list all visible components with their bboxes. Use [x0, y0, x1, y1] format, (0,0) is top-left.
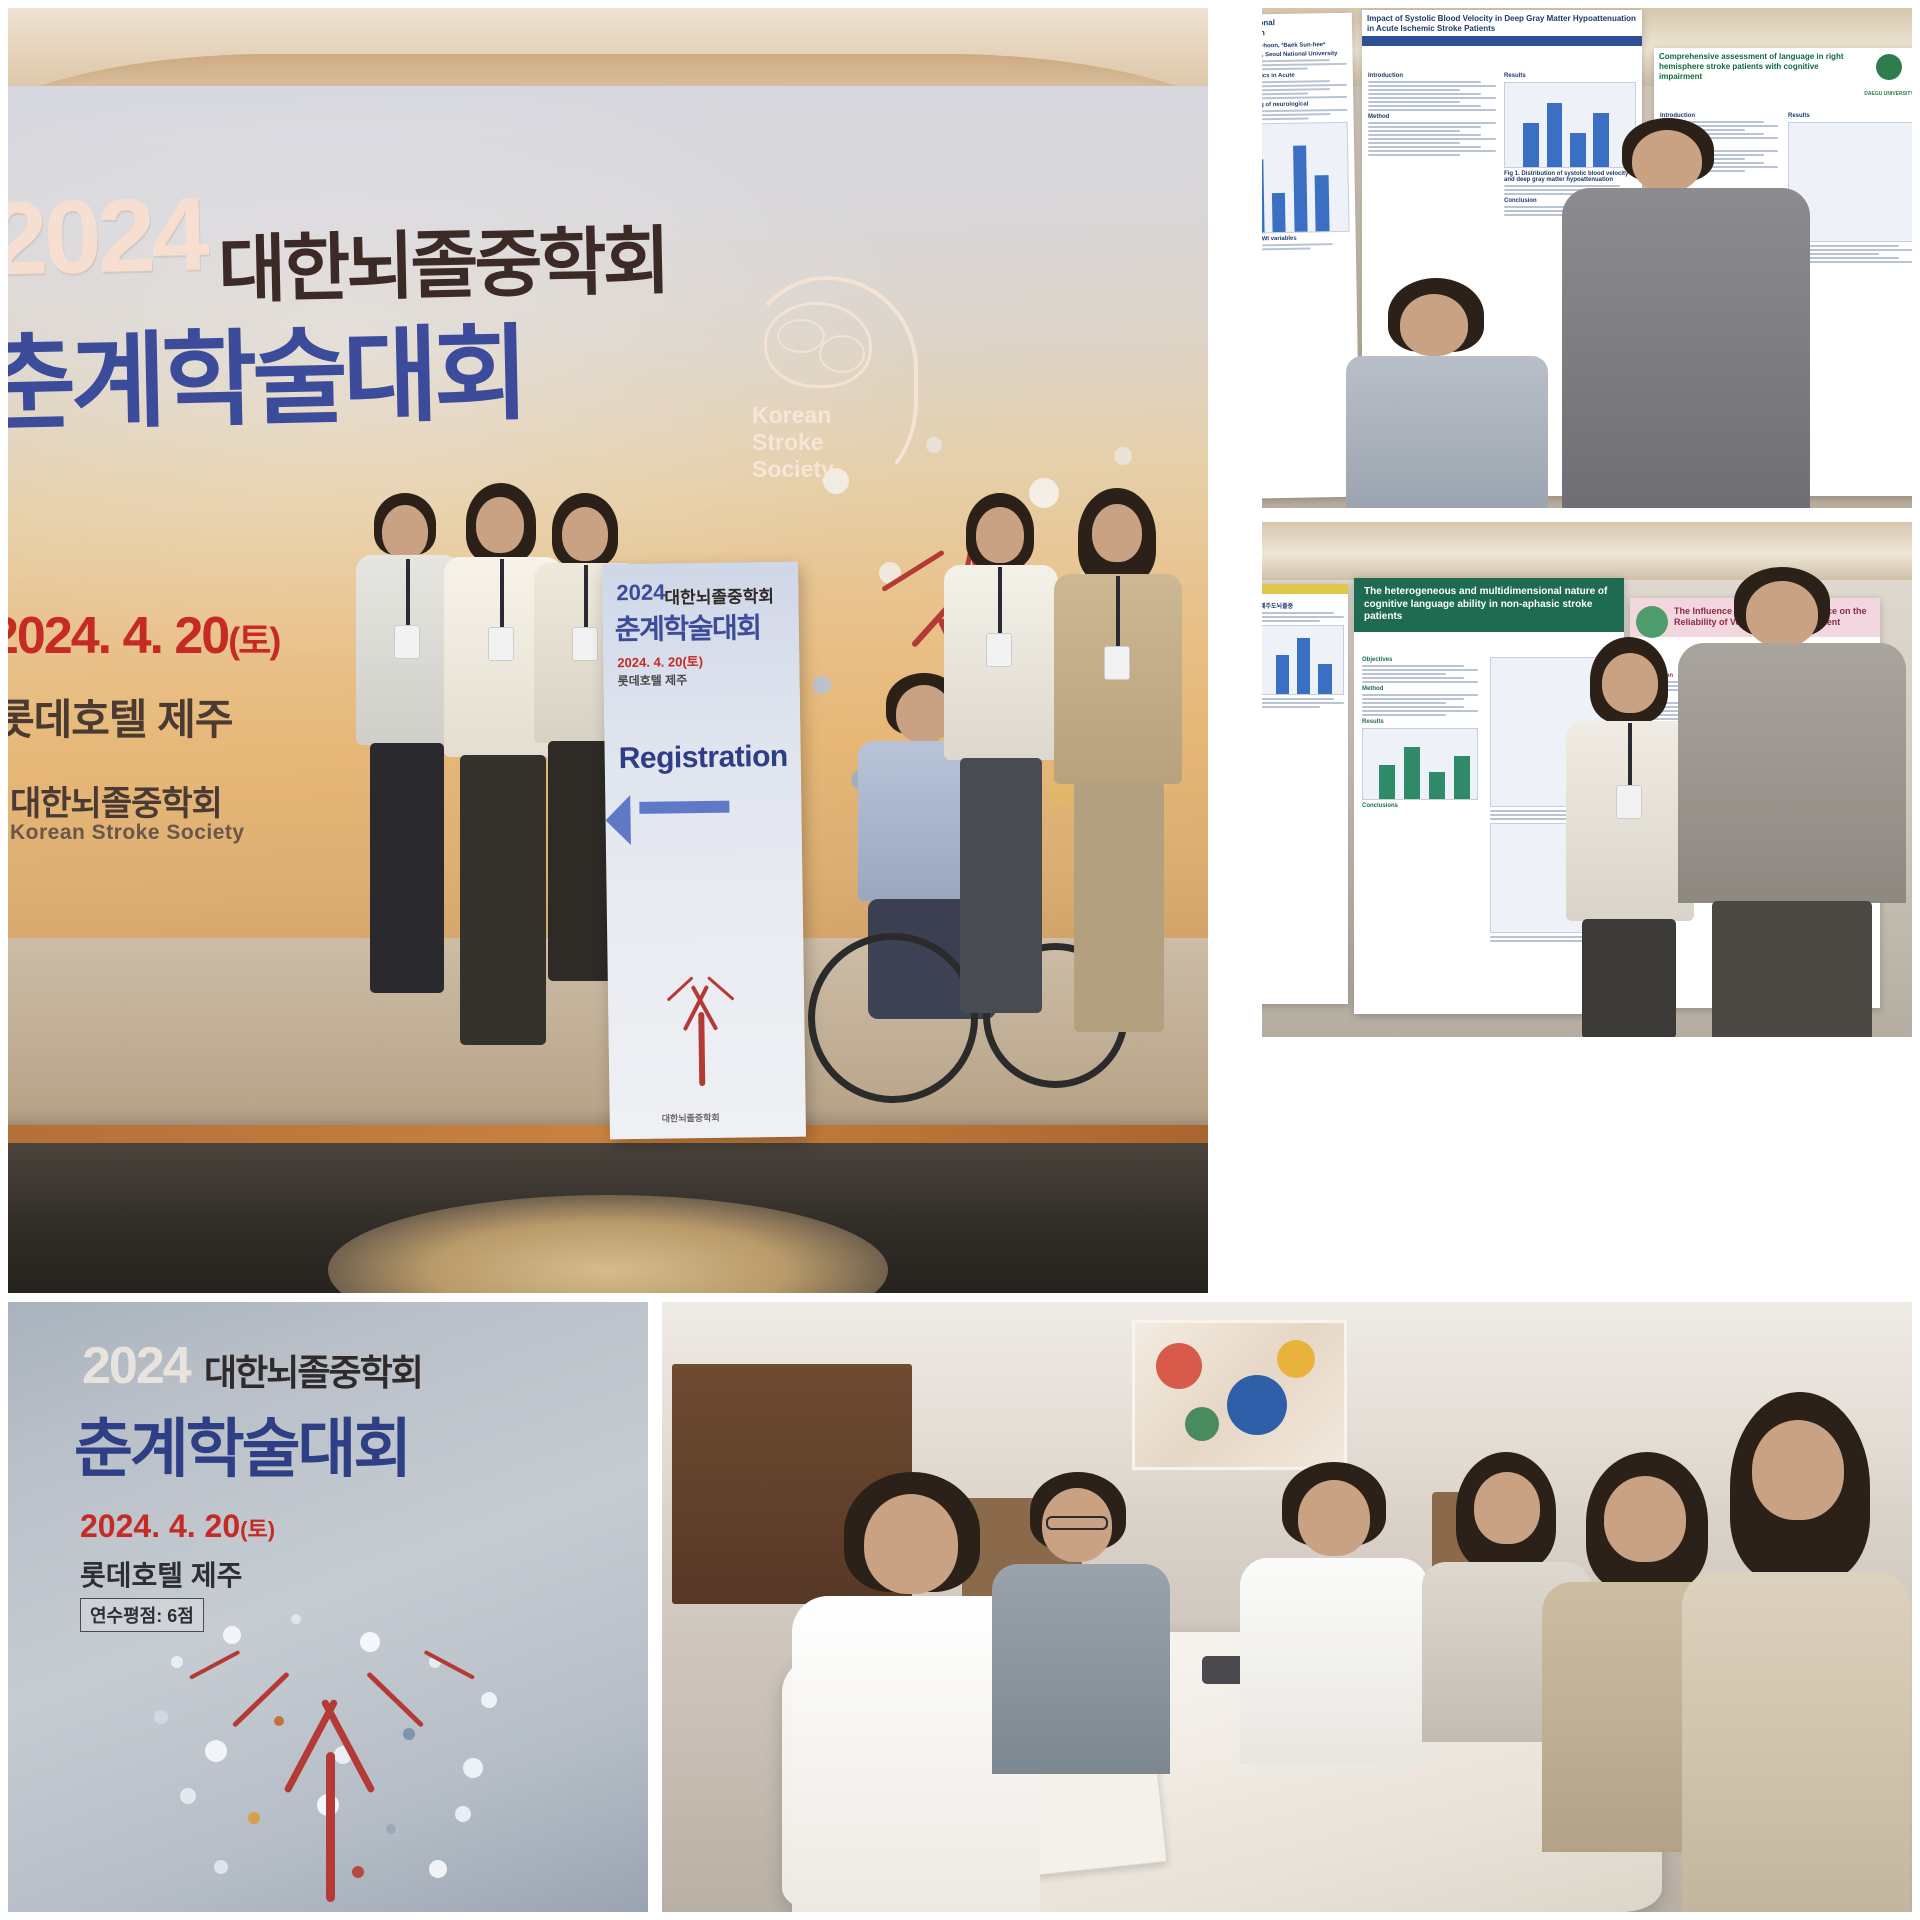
team-member-6	[1682, 1392, 1912, 1912]
poster-b-main-section-method: Method	[1362, 686, 1478, 692]
panel-poster-session-a: th poor functionalal deterioration ¹Lee …	[1262, 8, 1912, 508]
standee-footer: 대한뇌졸중학회	[662, 1111, 720, 1125]
poster-b-main-figure	[1362, 728, 1478, 800]
poster-b-main-section-objectives: Objectives	[1362, 657, 1478, 663]
registration-standee[interactable]: 2024 대한뇌졸중학회 춘계학술대회 2024. 4. 20(토) 롯데호텔 …	[602, 562, 806, 1140]
backdrop-venue: 롯데호텔 제주	[8, 686, 233, 747]
booklet-organization: 대한뇌졸중학회	[204, 1344, 422, 1396]
backdrop-date: 2024. 4. 20(토)	[8, 606, 279, 666]
standee-year: 2024	[616, 580, 665, 607]
booklet-date-value: 2024. 4. 20	[80, 1508, 240, 1544]
attendee-4	[938, 493, 1064, 1023]
arrow-left-icon	[639, 801, 729, 814]
booklet-venue: 롯데호텔 제주	[80, 1554, 242, 1594]
poster-center-band	[1362, 36, 1642, 46]
poster-center-section-introduction: Introduction	[1368, 73, 1496, 79]
daegu-university-logo: DAEGU UNIVERSITY	[1860, 54, 1912, 94]
team-member-2	[992, 1472, 1172, 1772]
poster-left-affiliation: Dept. of Neurology, Seoul National Unive…	[1262, 51, 1347, 59]
panel-group-backdrop: 2024 대한뇌졸중학회 춘계학술대회 2024. 4. 20(토) 롯데호텔 …	[8, 8, 1208, 1293]
poster-attendee	[1678, 567, 1908, 1037]
poster-center-section-method: Method	[1368, 114, 1496, 120]
poster-left-figure	[1262, 122, 1350, 234]
poster-b-far-left-figure	[1262, 625, 1344, 695]
attendee-5	[1048, 488, 1188, 1048]
poster-left-title: th poor functionalal deterioration	[1262, 13, 1352, 42]
poster-viewer-standing	[1562, 118, 1812, 508]
panel-programme-booklet: 2024 대한뇌졸중학회 춘계학술대회 2024. 4. 20(토) 롯데호텔 …	[8, 1302, 648, 1912]
wall-artwork	[1132, 1320, 1347, 1470]
panel-team-photo	[662, 1302, 1912, 1912]
booklet-date: 2024. 4. 20(토)	[80, 1508, 275, 1545]
standee-date: 2024. 4. 20(토)	[617, 651, 703, 671]
team-member-3	[1240, 1462, 1430, 1762]
poster-b-main-section-conclusions: Conclusions	[1362, 803, 1478, 809]
standee-title: 춘계학술대회	[615, 606, 761, 648]
backdrop-date-value: 2024. 4. 20	[8, 607, 228, 665]
poster-b-far-left-band	[1262, 584, 1348, 594]
panel-poster-session-b: 제주도뇌졸중 The heterogeneous and multidimens…	[1262, 522, 1912, 1037]
poster-left-section-method: versible worsening of neurological	[1262, 101, 1347, 109]
backdrop-year: 2024	[8, 175, 207, 299]
poster-viewer-seated	[1342, 278, 1552, 508]
poster-b-main-title: The heterogeneous and multidimensional n…	[1354, 578, 1624, 632]
poster-b-main-section-results: Results	[1362, 719, 1478, 725]
poster-left-figure-caption: the Change of CSWI variables	[1262, 235, 1350, 243]
standee-vascular-tree-icon	[637, 955, 769, 1087]
poster-b-board-far-left: 제주도뇌졸중	[1262, 584, 1348, 1004]
standee-venue: 롯데호텔 제주	[618, 671, 688, 689]
poster-left-authors: ¹Lee Min-ji, ²Kim Ji-hoon, ³Baek Sun-hee…	[1262, 42, 1346, 50]
poster-b-right-logo-icon	[1636, 606, 1668, 638]
eyeglasses-icon	[1046, 1516, 1108, 1530]
backdrop-title: 춘계학술대회	[8, 288, 526, 450]
poster-center-title: Impact of Systolic Blood Velocity in Dee…	[1362, 10, 1642, 36]
photo-collage: 2024 대한뇌졸중학회 춘계학술대회 2024. 4. 20(토) 롯데호텔 …	[0, 0, 1920, 1920]
standee-registration-label: Registration	[618, 740, 787, 776]
standee-organization: 대한뇌졸중학회	[664, 582, 774, 609]
backdrop-date-dow: (토)	[228, 620, 279, 661]
poster-b-far-left-heading: 제주도뇌졸중	[1262, 601, 1344, 610]
booklet-year: 2024	[82, 1336, 190, 1396]
poster-center-section-results: Results	[1504, 73, 1636, 79]
backdrop-footer-en: Korean Stroke Society	[10, 821, 245, 845]
booklet-title: 춘계학술대회	[74, 1398, 409, 1490]
booklet-date-dow: (토)	[240, 1517, 275, 1542]
daegu-university-label: DAEGU UNIVERSITY	[1864, 91, 1912, 97]
poster-left-section-intro: ious lesion dynamics in Acute	[1262, 72, 1347, 80]
backdrop-footer-ko: 대한뇌졸중학회	[10, 776, 222, 825]
booklet-brain-network-icon	[128, 1602, 558, 1902]
brain-icon	[764, 302, 872, 388]
